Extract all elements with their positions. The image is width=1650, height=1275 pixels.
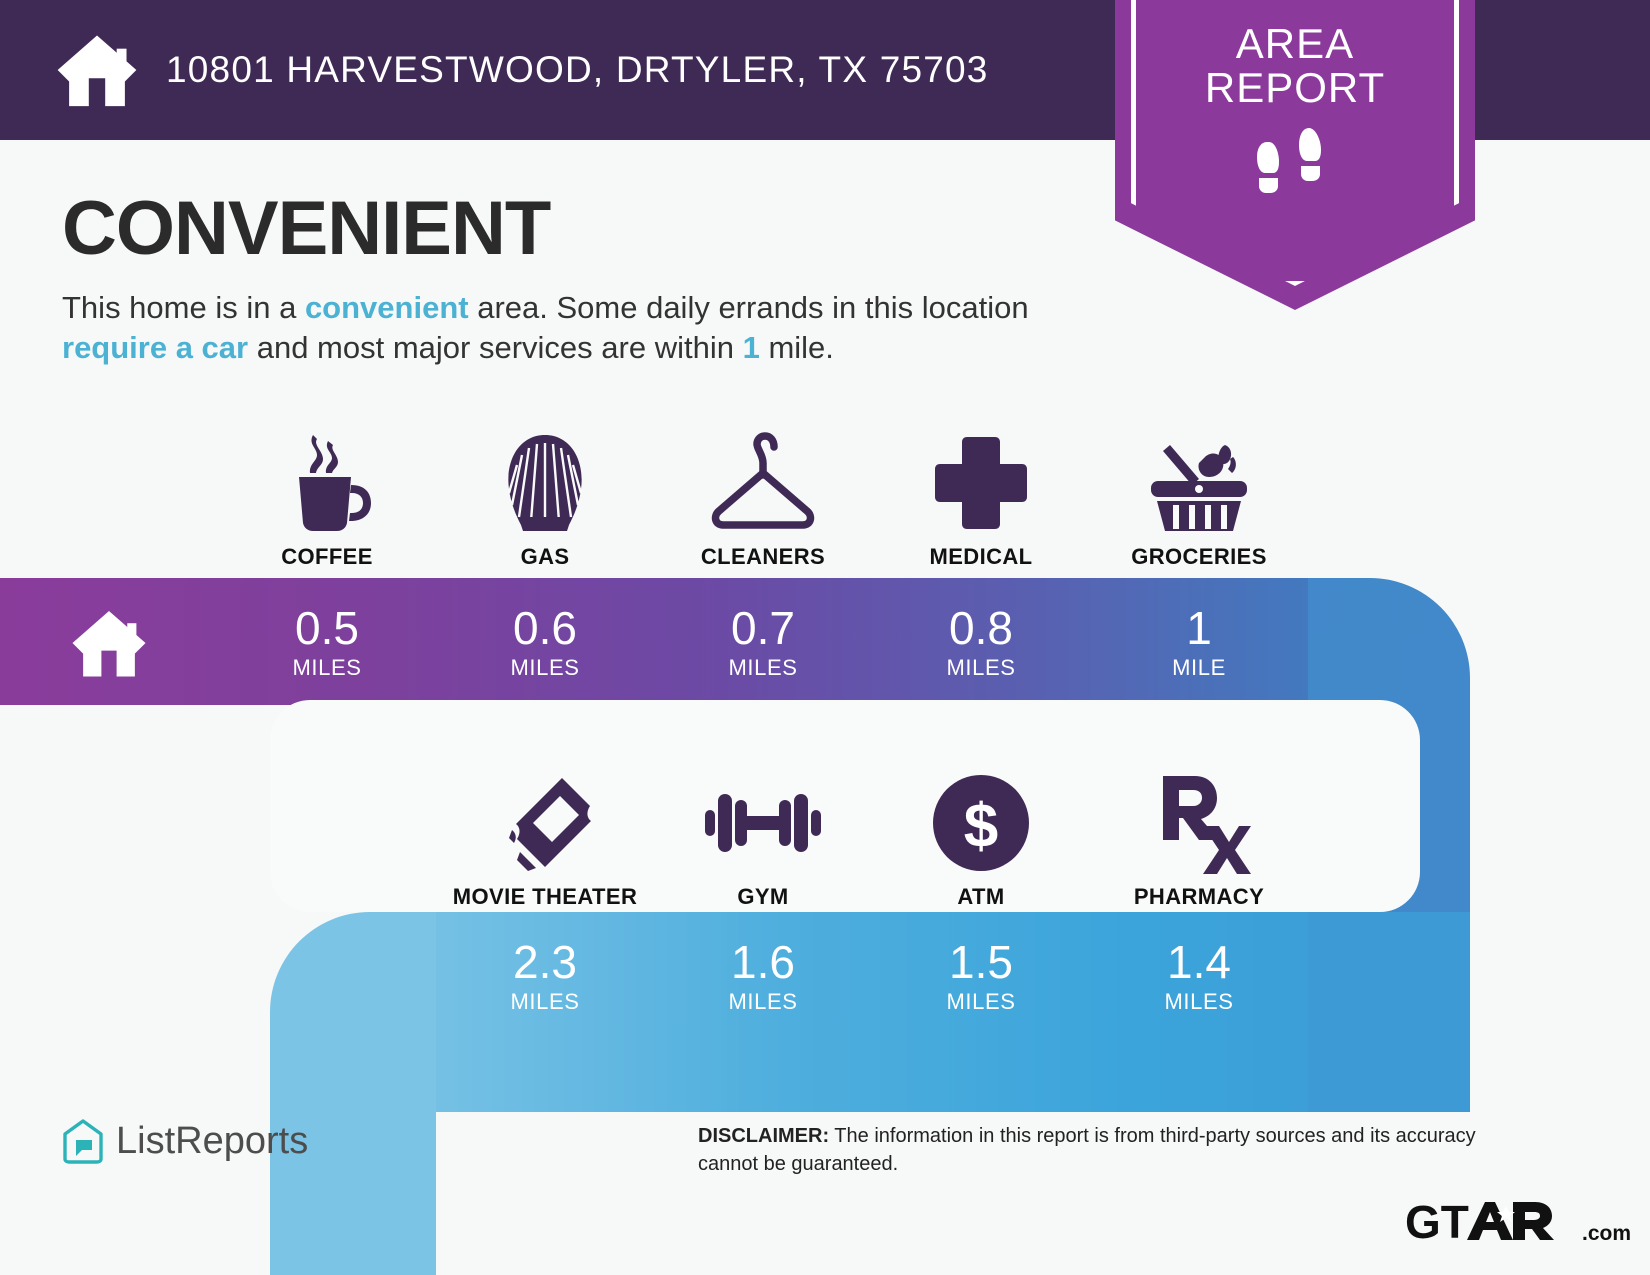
amenity-label: CLEANERS	[701, 544, 825, 570]
amenity-coffee[interactable]: COFFEE	[218, 415, 436, 570]
desc-highlight-convenient: convenient	[305, 290, 469, 325]
amenity-label: GROCERIES	[1131, 544, 1267, 570]
listreports-house-icon	[62, 1118, 104, 1164]
desc-part-1: This home is in a	[62, 290, 305, 325]
amenity-label: MOVIE THEATER	[453, 884, 637, 910]
amenity-movie-theater[interactable]: MOVIE THEATER	[436, 750, 654, 910]
distance-value: 0.8	[949, 605, 1013, 651]
amenity-label: ATM	[957, 884, 1004, 910]
distance-pharmacy: 1.4 MILES	[1090, 912, 1308, 1042]
home-icon	[70, 608, 148, 678]
svg-text:$: $	[964, 792, 998, 861]
distance-unit: MILES	[728, 655, 797, 681]
svg-text:GT: GT	[1405, 1198, 1469, 1248]
distance-unit: MILES	[946, 989, 1015, 1015]
distance-gas: 0.6 MILES	[436, 578, 654, 708]
desc-part-4: mile.	[760, 330, 834, 365]
amenity-label: MEDICAL	[929, 544, 1032, 570]
gtar-domain-suffix: .com	[1582, 1222, 1631, 1246]
distance-unit: MILES	[292, 655, 361, 681]
distance-medical: 0.8 MILES	[872, 578, 1090, 708]
property-address: 10801 HARVESTWOOD, DRTYLER, TX 75703	[166, 49, 989, 91]
desc-highlight-distance: 1	[743, 330, 760, 365]
gtar-wordmark-icon: GT	[1405, 1198, 1581, 1248]
distance-movie-theater: 2.3 MILES	[436, 912, 654, 1042]
listreports-brand-text: ListReports	[116, 1120, 308, 1163]
distance-value: 1.6	[731, 939, 795, 985]
amenity-label: GAS	[521, 544, 570, 570]
distance-unit: MILES	[1164, 989, 1233, 1015]
distance-unit: MILES	[946, 655, 1015, 681]
badge-label: AREA REPORT	[1205, 22, 1385, 110]
desc-part-2: area. Some daily errands in this locatio…	[469, 290, 1029, 325]
distance-groceries: 1 MILE	[1090, 578, 1308, 708]
amenity-atm[interactable]: $ ATM	[872, 750, 1090, 910]
page-description: This home is in a convenient area. Some …	[62, 288, 1072, 368]
home-marker-cell	[0, 578, 218, 708]
distance-value: 0.7	[731, 605, 795, 651]
medical-cross-icon	[929, 428, 1033, 538]
amenity-cleaners[interactable]: CLEANERS	[654, 415, 872, 570]
distance-gym: 1.6 MILES	[654, 912, 872, 1042]
shell-icon	[493, 428, 597, 538]
amenity-medical[interactable]: MEDICAL	[872, 415, 1090, 570]
amenity-label: GYM	[737, 884, 788, 910]
amenity-groceries[interactable]: GROCERIES	[1090, 415, 1308, 570]
distance-coffee: 0.5 MILES	[218, 578, 436, 708]
distance-value: 1.4	[1167, 939, 1231, 985]
desc-highlight-require-car: require a car	[62, 330, 248, 365]
home-icon	[56, 32, 138, 108]
row1-distance-bar: 0.5 MILES 0.6 MILES 0.7 MILES 0.8 MILES …	[0, 578, 1420, 708]
grocery-basket-icon	[1143, 428, 1255, 538]
ticket-icon	[490, 768, 600, 878]
dumbbell-icon	[701, 768, 825, 878]
distance-value: 1	[1186, 605, 1212, 651]
distance-unit: MILES	[510, 655, 579, 681]
amenity-pharmacy[interactable]: PHARMACY	[1090, 750, 1308, 910]
desc-part-3: and most major services are within	[248, 330, 742, 365]
amenity-label: PHARMACY	[1134, 884, 1264, 910]
row2-distance-bar: 2.3 MILES 1.6 MILES 1.5 MILES 1.4 MILES	[436, 912, 1420, 1042]
row1-spacer	[0, 415, 218, 570]
rx-icon	[1147, 768, 1251, 878]
row1-icon-strip: COFFEE GAS	[0, 415, 1420, 570]
dollar-coin-icon: $	[929, 768, 1033, 878]
gtar-logo[interactable]: GT .com	[1405, 1198, 1631, 1248]
distance-unit: MILES	[510, 989, 579, 1015]
amenity-gas[interactable]: GAS	[436, 415, 654, 570]
distance-value: 1.5	[949, 939, 1013, 985]
distance-value: 2.3	[513, 939, 577, 985]
distance-value: 0.6	[513, 605, 577, 651]
distance-unit: MILE	[1172, 655, 1226, 681]
listreports-logo[interactable]: ListReports	[62, 1118, 308, 1164]
disclaimer-label: DISCLAIMER:	[698, 1125, 829, 1147]
distance-atm: 1.5 MILES	[872, 912, 1090, 1042]
distance-unit: MILES	[728, 989, 797, 1015]
disclaimer: DISCLAIMER: The information in this repo…	[698, 1122, 1498, 1178]
row2-icon-strip: MOVIE THEATER GYM	[436, 750, 1420, 910]
hanger-icon	[703, 428, 823, 538]
distance-value: 0.5	[295, 605, 359, 651]
amenity-label: COFFEE	[281, 544, 373, 570]
distance-cleaners: 0.7 MILES	[654, 578, 872, 708]
badge-line-1: AREA	[1236, 20, 1354, 67]
page-title: CONVENIENT	[62, 185, 550, 272]
footprints-icon	[1251, 124, 1339, 194]
badge-line-2: REPORT	[1205, 64, 1385, 111]
amenity-gym[interactable]: GYM	[654, 750, 872, 910]
coffee-cup-icon	[275, 428, 379, 538]
